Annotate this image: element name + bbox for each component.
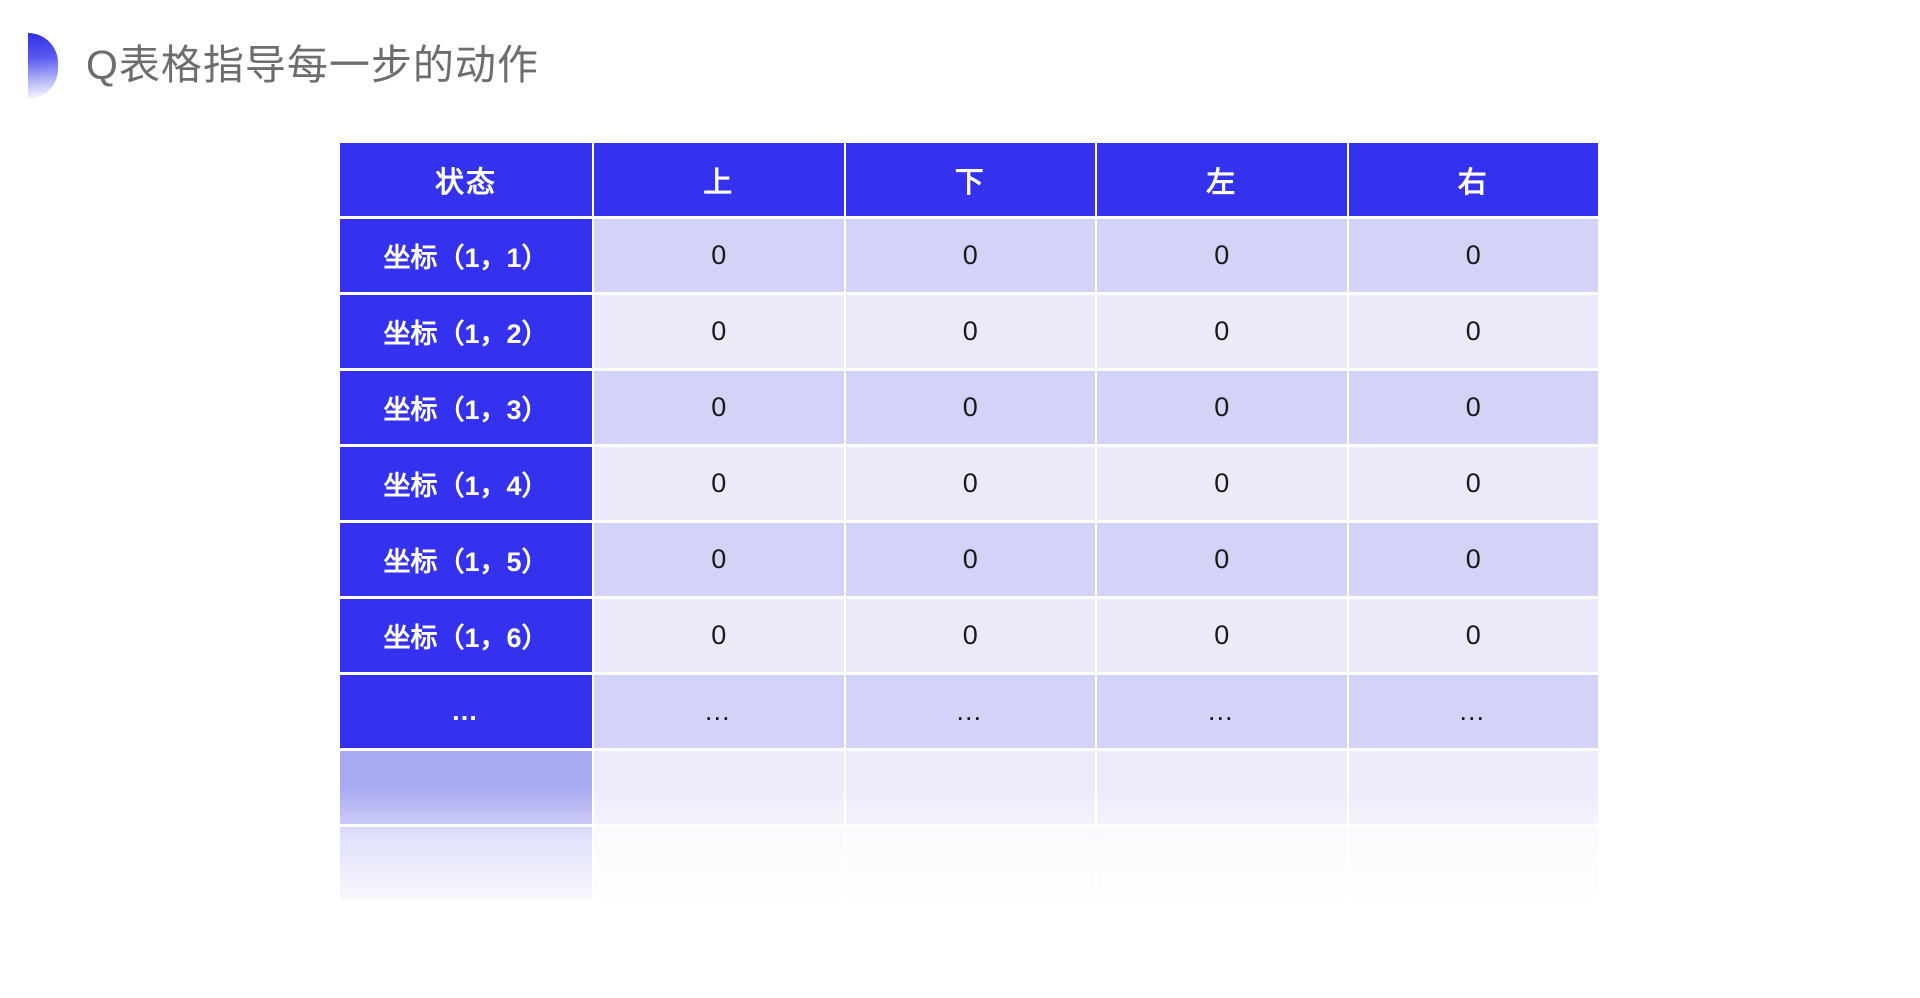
state-cell: 坐标（1，5） — [340, 523, 592, 596]
q-value-down: 0 — [846, 523, 1096, 596]
table-row: 坐标（1，6） 0 0 0 0 — [340, 599, 1598, 672]
column-header-left: 左 — [1097, 143, 1347, 216]
q-value-left: 0 — [1097, 295, 1347, 368]
q-value-up: 0 — [594, 599, 844, 672]
q-value-down: 0 — [846, 599, 1096, 672]
q-value-empty — [846, 827, 1096, 900]
q-value-empty — [1097, 827, 1347, 900]
column-header-right: 右 — [1349, 143, 1599, 216]
q-value-up: 0 — [594, 371, 844, 444]
q-value-up: 0 — [594, 295, 844, 368]
q-value-right: 0 — [1349, 447, 1599, 520]
q-value-right: 0 — [1349, 523, 1599, 596]
q-value-right: 0 — [1349, 371, 1599, 444]
q-value-up: 0 — [594, 219, 844, 292]
column-header-down: 下 — [846, 143, 1096, 216]
state-cell-ellipsis: … — [340, 675, 592, 748]
table-header-row: 状态 上 下 左 右 — [340, 143, 1598, 216]
table-row: 坐标（1，4） 0 0 0 0 — [340, 447, 1598, 520]
slide-title-row: Q表格指导每一步的动作 — [28, 30, 539, 102]
q-value-right: 0 — [1349, 599, 1599, 672]
slide-root: Q表格指导每一步的动作 状态 上 下 左 右 坐标（1，1） 0 — [0, 0, 1920, 998]
q-value-empty — [594, 827, 844, 900]
q-value-left: 0 — [1097, 599, 1347, 672]
table-row-ellipsis: … … … … … — [340, 675, 1598, 748]
state-cell-empty — [340, 751, 592, 824]
page-title: Q表格指导每一步的动作 — [86, 43, 539, 88]
table-row: 坐标（1，2） 0 0 0 0 — [340, 295, 1598, 368]
q-value-down: 0 — [846, 295, 1096, 368]
q-value-left-ellipsis: … — [1097, 675, 1347, 748]
q-value-left: 0 — [1097, 219, 1347, 292]
q-value-left: 0 — [1097, 447, 1347, 520]
q-value-up: 0 — [594, 523, 844, 596]
state-cell: 坐标（1，3） — [340, 371, 592, 444]
q-value-up-ellipsis: … — [594, 675, 844, 748]
column-header-state: 状态 — [340, 143, 592, 216]
state-cell: 坐标（1，1） — [340, 219, 592, 292]
q-value-empty — [846, 751, 1096, 824]
q-value-up: 0 — [594, 447, 844, 520]
column-header-up: 上 — [594, 143, 844, 216]
q-value-down-ellipsis: … — [846, 675, 1096, 748]
q-value-empty — [594, 751, 844, 824]
q-value-down: 0 — [846, 219, 1096, 292]
q-table: 状态 上 下 左 右 坐标（1，1） 0 0 0 0 坐标（1，2） 0 — [338, 140, 1600, 903]
q-table-container: 状态 上 下 左 右 坐标（1，1） 0 0 0 0 坐标（1，2） 0 — [338, 140, 1600, 903]
state-cell: 坐标（1，4） — [340, 447, 592, 520]
q-table-head: 状态 上 下 左 右 — [340, 143, 1598, 216]
state-cell: 坐标（1，6） — [340, 599, 592, 672]
q-value-down: 0 — [846, 447, 1096, 520]
q-value-right-ellipsis: … — [1349, 675, 1599, 748]
table-row-faded — [340, 751, 1598, 824]
q-value-right: 0 — [1349, 219, 1599, 292]
table-row: 坐标（1，3） 0 0 0 0 — [340, 371, 1598, 444]
q-value-left: 0 — [1097, 523, 1347, 596]
q-value-empty — [1349, 827, 1599, 900]
state-cell: 坐标（1，2） — [340, 295, 592, 368]
q-table-body: 坐标（1，1） 0 0 0 0 坐标（1，2） 0 0 0 0 坐标（1，3） … — [340, 219, 1598, 900]
half-circle-decoration-icon — [28, 33, 58, 99]
table-row: 坐标（1，5） 0 0 0 0 — [340, 523, 1598, 596]
q-value-empty — [1097, 751, 1347, 824]
q-value-left: 0 — [1097, 371, 1347, 444]
table-row-faded — [340, 827, 1598, 900]
state-cell-empty — [340, 827, 592, 900]
q-value-down: 0 — [846, 371, 1096, 444]
q-value-right: 0 — [1349, 295, 1599, 368]
table-row: 坐标（1，1） 0 0 0 0 — [340, 219, 1598, 292]
q-value-empty — [1349, 751, 1599, 824]
